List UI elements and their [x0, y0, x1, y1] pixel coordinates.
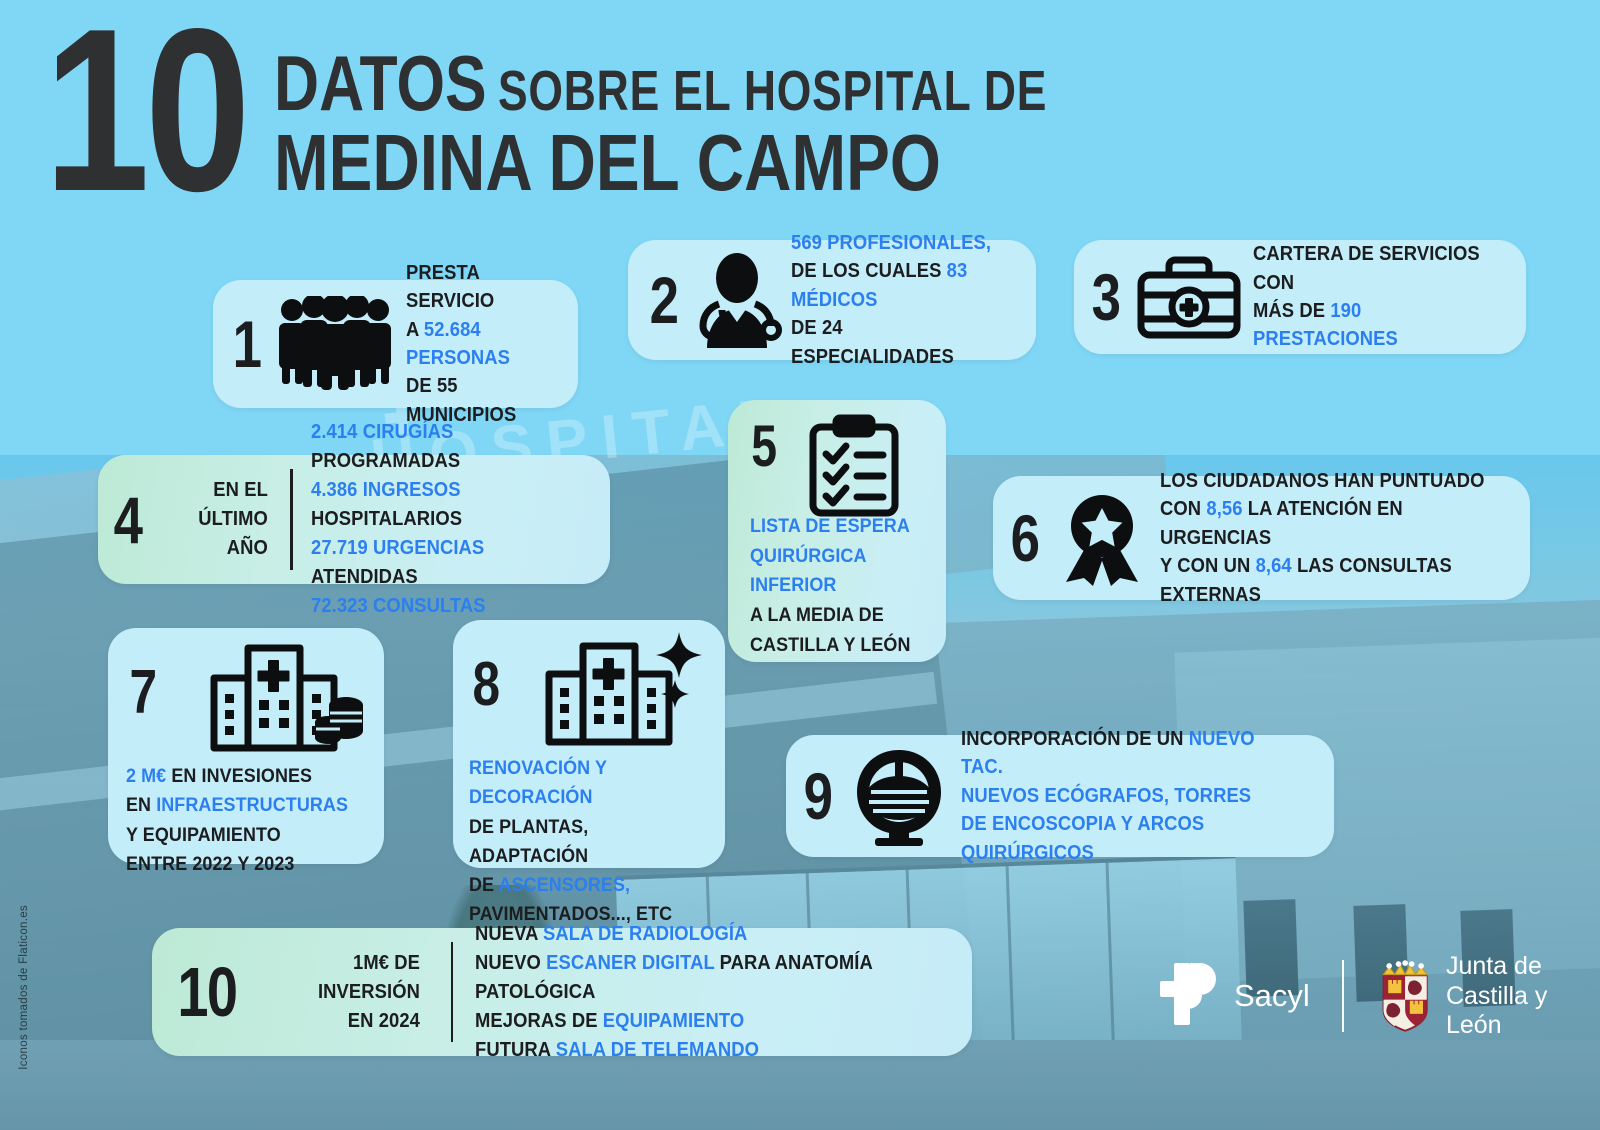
- medical-briefcase-icon: [1135, 253, 1243, 341]
- doctor-stethoscope-icon: [689, 252, 785, 348]
- fact-card-2[interactable]: 2 569 PROFESIONALES,DE LOS CUALES 83 MÉD…: [628, 240, 1036, 360]
- fact-card-10[interactable]: 10 1M€ DE INVERSIÓNEN 2024 NUEVA SALA DE…: [152, 928, 972, 1056]
- icon-credit-note: Iconos tomados de Flaticon.es: [18, 905, 30, 1070]
- fact-text-3: CARTERA DE SERVICIOS CONMÁS DE 190 PREST…: [1253, 240, 1490, 354]
- fact-left-label-10: 1M€ DE INVERSIÓNEN 2024: [272, 949, 420, 1036]
- fact-number-1: 1: [233, 311, 262, 377]
- fact-number-5: 5: [751, 418, 777, 476]
- page-title: 10 DATOS SOBRE EL HOSPITAL DE MEDINA DEL…: [44, 16, 1202, 209]
- fact-number-8: 8: [472, 654, 500, 716]
- fact-number-4: 4: [114, 487, 143, 553]
- fact-card-7[interactable]: 7: [108, 628, 384, 864]
- title-line-2: MEDINA DEL CAMPO: [274, 117, 941, 209]
- hospital-with-coins-icon: [200, 642, 368, 754]
- fact-text-1: PRESTA SERVICIOA 52.684 PERSONASDE 55 MU…: [406, 259, 548, 429]
- logo-divider: [1342, 960, 1344, 1032]
- footer-logos: Sacyl: [1160, 952, 1600, 1041]
- fact-card-1[interactable]: 1 PRESTA SERVICIOA 52.684 PERSONASDE 55 …: [213, 280, 578, 408]
- divider-4: [290, 469, 293, 570]
- sacyl-mark-icon: [1160, 959, 1224, 1033]
- title-big-number: 10: [44, 16, 246, 206]
- fact-text-5: LISTA DE ESPERAQUIRÚRGICAINFERIORA LA ME…: [750, 512, 911, 660]
- junta-wordmark: Junta de Castilla y León: [1446, 952, 1600, 1041]
- group-of-people-icon: [274, 296, 398, 392]
- title-word-sobre: SOBRE EL HOSPITAL DE: [498, 58, 1047, 124]
- fact-text-7: 2 M€ EN INVESIONESEN INFRAESTRUCTURASY E…: [126, 762, 350, 879]
- fact-left-label-4: EN ELÚLTIMO AÑO: [169, 476, 268, 563]
- title-word-datos: DATOS: [274, 38, 487, 129]
- fact-number-7: 7: [129, 662, 157, 724]
- fact-card-8[interactable]: 8 RENOVACIÓN Y DECOR: [453, 620, 725, 868]
- castilla-y-leon-coat-of-arms-icon: [1376, 957, 1434, 1035]
- junta-line-1: Junta de: [1446, 952, 1600, 982]
- fact-card-9[interactable]: 9 INCORPORACIÓN DE UN NUEVO TAC.NUEVOS E…: [786, 735, 1334, 857]
- fact-card-3[interactable]: 3 CARTERA DE SERVICIOS CONMÁS DE 190 PRE…: [1074, 240, 1526, 354]
- fact-card-4[interactable]: 4 EN ELÚLTIMO AÑO 2.414 CIRUGÍAS PROGRAM…: [98, 455, 610, 584]
- sacyl-wordmark: Sacyl: [1234, 978, 1310, 1014]
- fact-card-6[interactable]: 6 LOS CIUDADANOS HAN PUNTUADOCON 8,56 LA…: [993, 476, 1530, 600]
- fact-text-2: 569 PROFESIONALES,DE LOS CUALES 83 MÉDIC…: [791, 229, 1004, 371]
- fact-text-9: INCORPORACIÓN DE UN NUEVO TAC.NUEVOS ECÓ…: [961, 725, 1292, 867]
- fact-number-2: 2: [650, 267, 679, 333]
- fact-number-6: 6: [1011, 505, 1040, 571]
- fact-number-3: 3: [1092, 264, 1121, 330]
- fact-text-10: NUEVA SALA DE RADIOLOGÍANUEVO ESCANER DI…: [475, 920, 919, 1065]
- fact-number-10: 10: [177, 957, 236, 1027]
- sacyl-logo: Sacyl: [1160, 959, 1310, 1033]
- award-ribbon-icon: [1054, 490, 1150, 586]
- fact-text-4: 2.414 CIRUGÍAS PROGRAMADAS4.386 INGRESOS…: [311, 418, 573, 621]
- divider-10: [451, 942, 454, 1042]
- fact-number-9: 9: [804, 763, 833, 829]
- infographic-canvas: HOSPITAL 10 DATOS SOBRE EL HOSPITAL DE M…: [0, 0, 1600, 1130]
- hospital-sparkle-icon: [535, 630, 707, 746]
- junta-line-2: Castilla y León: [1446, 982, 1600, 1041]
- fact-text-8: RENOVACIÓN Y DECORACIÓNDE PLANTAS, ADAPT…: [469, 754, 693, 930]
- fact-text-6: LOS CIUDADANOS HAN PUNTUADOCON 8,56 LA A…: [1160, 467, 1488, 609]
- junta-logo: Junta de Castilla y León: [1376, 952, 1600, 1041]
- ct-scanner-icon: [845, 744, 953, 848]
- clipboard-checklist-icon: [806, 414, 902, 518]
- fact-card-5[interactable]: 5 LISTA DE ESPERAQUIRÚRGICAINFERIORA LA …: [728, 400, 946, 662]
